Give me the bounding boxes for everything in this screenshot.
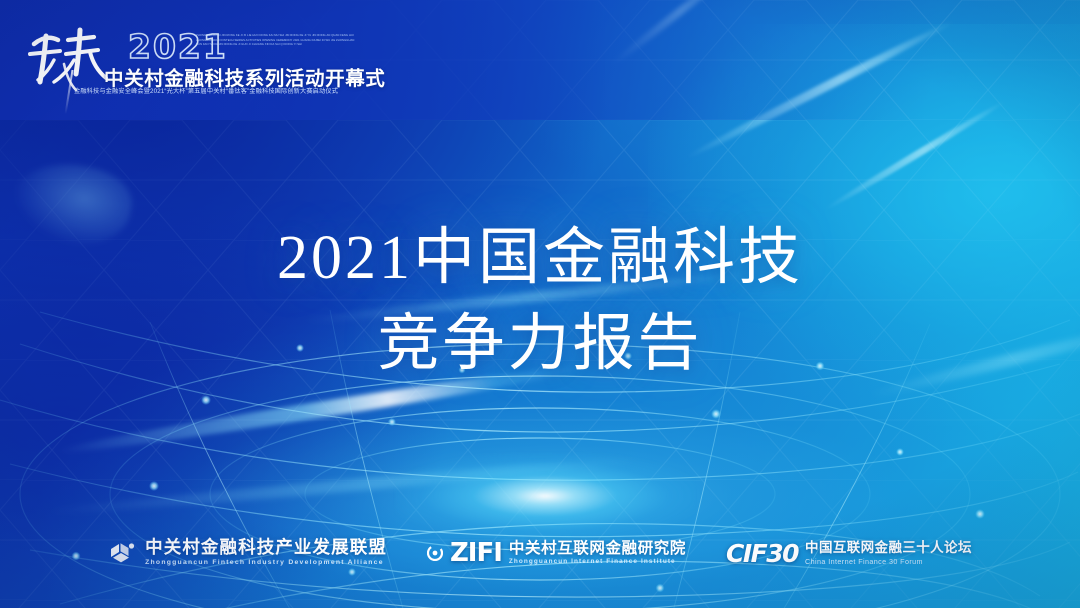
logo-text-block: 中国互联网金融三十人论坛 China Internet Finance 30 F… — [805, 541, 972, 565]
header-sub-title: 金融科技与金融安全峰会暨2021“光大杯”第五届中关村“番钛客”金融科技国际创新… — [74, 86, 338, 95]
logo-cn-name: 中国互联网金融三十人论坛 — [805, 541, 972, 555]
poster-title: 2021中国金融科技 竞争力报告 — [0, 216, 1080, 387]
logo-text-block: 中关村金融科技产业发展联盟 Zhongguancun Fintech Indus… — [145, 539, 387, 566]
title-line-1: 2021中国金融科技 — [0, 216, 1080, 302]
logo-wordmark: ZIFI — [450, 538, 502, 568]
logo-cn-name: 中关村互联网金融研究院 — [509, 541, 686, 557]
center-glow-core — [395, 453, 695, 539]
logo-zgc-fintech-alliance: 中关村金融科技产业发展联盟 Zhongguancun Fintech Indus… — [108, 539, 387, 567]
cube-alliance-icon — [108, 539, 138, 567]
logo-wordmark: CIF30 — [726, 539, 798, 568]
logo-zgc-internet-finance-institute: ZIFI 中关村互联网金融研究院 Zhongguancun Internet F… — [427, 538, 686, 568]
logo-en-name: China Internet Finance 30 Forum — [805, 558, 972, 565]
event-header-band: 2021 ZHONGGUANCUN JIN RONG KE JI XI LIE … — [0, 0, 1080, 120]
logo-cif30-forum: CIF30 中国互联网金融三十人论坛 China Internet Financ… — [726, 539, 972, 568]
sponsor-logo-bar: 中关村金融科技产业发展联盟 Zhongguancun Fintech Indus… — [0, 538, 1080, 568]
logo-en-name: Zhongguancun Fintech Industry Developmen… — [145, 560, 387, 567]
logo-en-name: Zhongguancun Internet Finance Institute — [509, 559, 686, 565]
logo-text-block: 中关村互联网金融研究院 Zhongguancun Internet Financ… — [509, 541, 686, 566]
zifi-circle-icon — [427, 545, 443, 561]
title-line-2: 竞争力报告 — [0, 302, 1080, 388]
logo-cn-name: 中关村金融科技产业发展联盟 — [145, 539, 387, 557]
header-english-microtext: ZHONGGUANCUN JIN RONG KE JI XI LIE HUO D… — [196, 34, 356, 48]
poster-canvas: 2021 ZHONGGUANCUN JIN RONG KE JI XI LIE … — [0, 0, 1080, 608]
